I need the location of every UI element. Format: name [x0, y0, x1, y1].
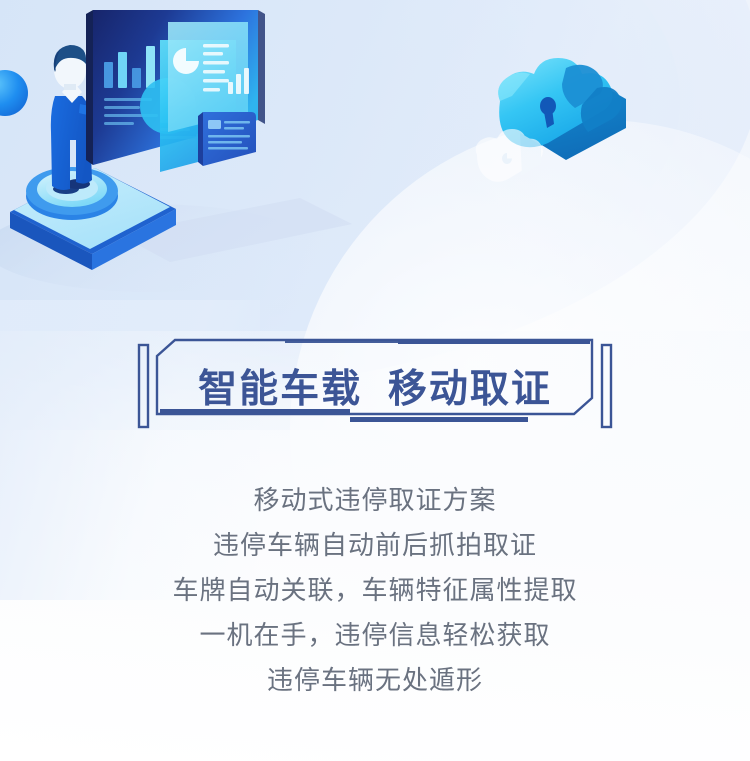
body-copy: 移动式违停取证方案 违停车辆自动前后抓拍取证 车牌自动关联，车辆特征属性提取 一…	[0, 478, 750, 703]
body-line-5: 违停车辆无处遁形	[0, 658, 750, 703]
sphere-icon	[0, 70, 28, 116]
body-line-2: 违停车辆自动前后抓拍取证	[0, 523, 750, 568]
title-block: 智能车载 移动取证	[0, 330, 750, 442]
dashboard-screen-small	[198, 112, 256, 166]
hero-illustration	[0, 0, 680, 300]
body-line-4: 一机在手，违停信息轻松获取	[0, 613, 750, 658]
page-title: 智能车载 移动取证	[0, 330, 750, 442]
poster-root: 智能车载 移动取证 移动式违停取证方案 违停车辆自动前后抓拍取证 车牌自动关联，…	[0, 0, 750, 761]
body-line-3: 车牌自动关联，车辆特征属性提取	[0, 568, 750, 613]
body-line-1: 移动式违停取证方案	[0, 478, 750, 523]
